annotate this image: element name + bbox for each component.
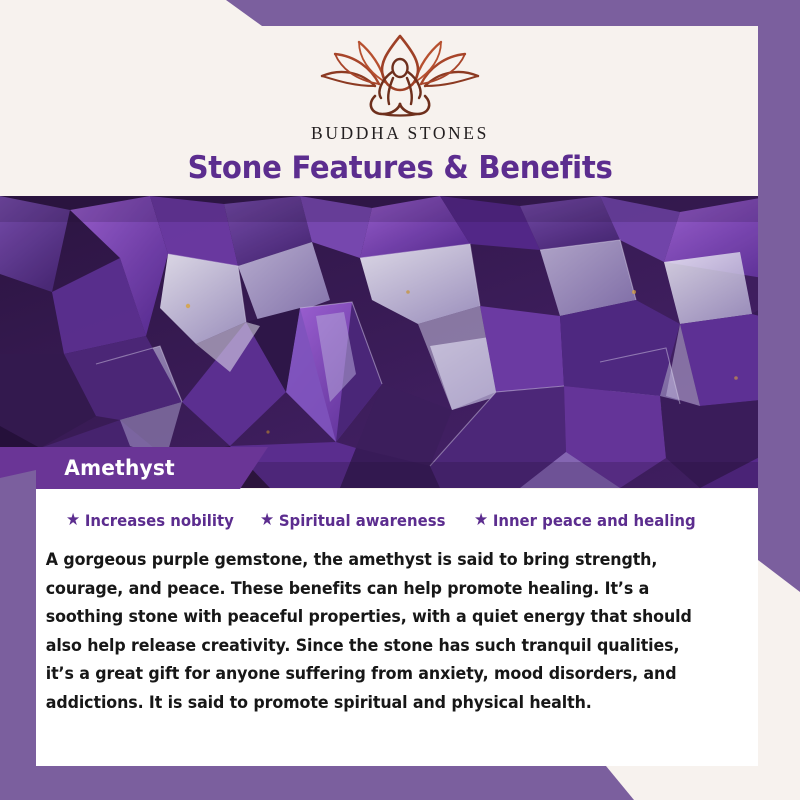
star-icon: ★ <box>66 512 80 529</box>
feature-item: ★ Spiritual awareness <box>260 511 445 530</box>
frame-bottom-bar <box>0 766 800 800</box>
frame-top-bar <box>0 0 800 26</box>
feature-label: Increases nobility <box>85 511 234 530</box>
brand-name: BUDDHA STONES <box>311 123 489 144</box>
frame-right-bar <box>758 0 800 592</box>
feature-item: ★ Increases nobility <box>66 511 234 530</box>
feature-list: ★ Increases nobility ★ Spiritual awarene… <box>40 511 740 530</box>
amethyst-crystal-photo <box>0 196 800 488</box>
frame-left-bar <box>0 470 36 800</box>
lotus-meditation-icon <box>305 34 495 120</box>
content-panel: ★ Increases nobility ★ Spiritual awarene… <box>36 489 758 766</box>
stone-name: Amethyst <box>64 456 175 480</box>
feature-label: Spiritual awareness <box>279 511 446 530</box>
star-icon: ★ <box>474 512 488 529</box>
feature-item: ★ Inner peace and healing <box>474 511 696 530</box>
description-text: A gorgeous purple gemstone, the amethyst… <box>40 546 709 717</box>
stone-name-banner: Amethyst <box>0 447 268 489</box>
page-title: Stone Features & Benefits <box>188 150 613 186</box>
star-icon: ★ <box>260 512 274 529</box>
header: BUDDHA STONES Stone Features & Benefits <box>0 26 800 196</box>
feature-label: Inner peace and healing <box>493 511 696 530</box>
brand-logo: BUDDHA STONES <box>305 34 495 144</box>
